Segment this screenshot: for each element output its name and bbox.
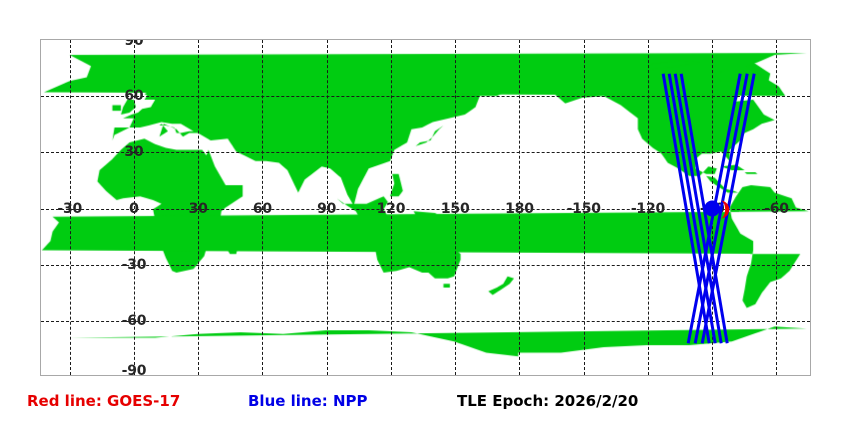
lon-tick-150: 150	[441, 201, 470, 217]
legend-row: Red line: GOES-17 Blue line: NPP TLE Epo…	[0, 392, 850, 422]
lon-tick--120: -120	[631, 201, 665, 217]
world-map-landmass-canvas	[41, 40, 810, 375]
lon-tick-60: 60	[253, 201, 272, 217]
lon-tick-120: 120	[377, 201, 406, 217]
lat-tick-30: 30	[124, 144, 143, 160]
lon-tick--60: -60	[764, 201, 789, 217]
legend-tle-epoch: TLE Epoch: 2026/2/20	[457, 392, 638, 410]
lat-tick--30: -30	[122, 257, 147, 273]
lon-tick--150: -150	[567, 201, 601, 217]
lat-tick-60: 60	[124, 88, 143, 104]
lat-tick-0: 0	[129, 201, 139, 217]
lat-tick-90: 90	[124, 39, 143, 49]
lon-tick--90: -90	[700, 201, 725, 217]
legend-red-line-goes17: Red line: GOES-17	[27, 392, 180, 410]
lon-tick-30: 30	[189, 201, 208, 217]
lat-tick--60: -60	[122, 313, 147, 329]
lon-tick--30: -30	[57, 201, 82, 217]
world-map-panel: -300306090120150180-150-120-90-609060300…	[40, 39, 811, 376]
legend-blue-line-npp: Blue line: NPP	[248, 392, 368, 410]
lat-tick--90: -90	[122, 363, 147, 376]
lon-tick-180: 180	[505, 201, 534, 217]
lon-tick-90: 90	[317, 201, 336, 217]
